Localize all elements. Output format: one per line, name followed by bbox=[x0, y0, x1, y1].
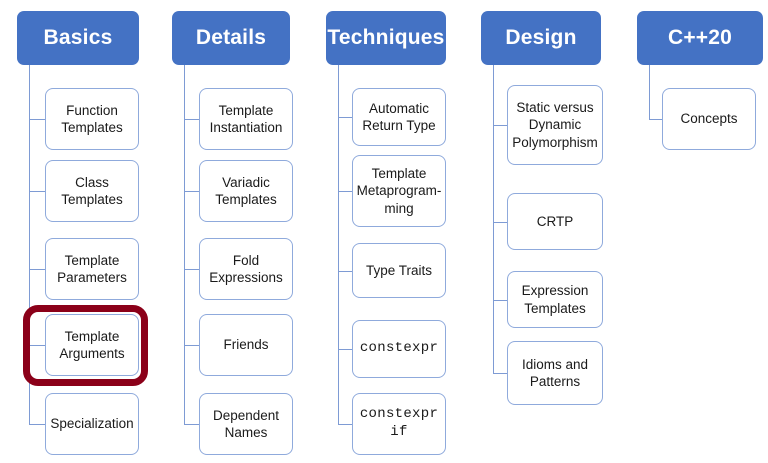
node-design-1[interactable]: CRTP bbox=[507, 193, 603, 250]
node-techniques-2[interactable]: Type Traits bbox=[352, 243, 446, 298]
connector-trunk-techniques bbox=[338, 65, 339, 424]
node-basics-2[interactable]: Template Parameters bbox=[45, 238, 139, 300]
connector-stub-techniques-0 bbox=[338, 117, 352, 118]
connector-stub-details-4 bbox=[184, 424, 199, 425]
connector-trunk-cpp20 bbox=[649, 65, 650, 119]
connector-stub-details-0 bbox=[184, 119, 199, 120]
node-cpp20-0[interactable]: Concepts bbox=[662, 88, 756, 150]
connector-stub-basics-2 bbox=[29, 269, 45, 270]
connector-stub-basics-3 bbox=[29, 345, 45, 346]
connector-stub-cpp20-0 bbox=[649, 119, 662, 120]
connector-stub-basics-4 bbox=[29, 424, 45, 425]
connector-stub-details-3 bbox=[184, 345, 199, 346]
header-basics[interactable]: Basics bbox=[17, 11, 139, 65]
connector-stub-basics-0 bbox=[29, 119, 45, 120]
connector-stub-design-0 bbox=[493, 125, 507, 126]
node-techniques-1[interactable]: Template Metaprogram- ming bbox=[352, 155, 446, 227]
header-techniques[interactable]: Techniques bbox=[326, 11, 446, 65]
node-design-0[interactable]: Static versus Dynamic Polymorphism bbox=[507, 85, 603, 165]
connector-stub-details-1 bbox=[184, 191, 199, 192]
connector-stub-details-2 bbox=[184, 269, 199, 270]
connector-stub-techniques-1 bbox=[338, 191, 352, 192]
node-basics-4[interactable]: Specialization bbox=[45, 393, 139, 455]
node-details-2[interactable]: Fold Expressions bbox=[199, 238, 293, 300]
node-details-3[interactable]: Friends bbox=[199, 314, 293, 376]
node-basics-3[interactable]: Template Arguments bbox=[45, 314, 139, 376]
header-details[interactable]: Details bbox=[172, 11, 290, 65]
node-techniques-0[interactable]: Automatic Return Type bbox=[352, 88, 446, 146]
connector-stub-design-2 bbox=[493, 300, 507, 301]
connector-stub-techniques-3 bbox=[338, 349, 352, 350]
node-techniques-4[interactable]: constexpr if bbox=[352, 393, 446, 455]
header-cpp20[interactable]: C++20 bbox=[637, 11, 763, 65]
connector-stub-design-1 bbox=[493, 222, 507, 223]
connector-stub-basics-1 bbox=[29, 191, 45, 192]
node-details-1[interactable]: Variadic Templates bbox=[199, 160, 293, 222]
mindmap-diagram: BasicsFunction TemplatesClass TemplatesT… bbox=[0, 0, 768, 463]
node-details-0[interactable]: Template Instantiation bbox=[199, 88, 293, 150]
connector-stub-techniques-4 bbox=[338, 424, 352, 425]
node-design-2[interactable]: Expression Templates bbox=[507, 271, 603, 328]
node-design-3[interactable]: Idioms and Patterns bbox=[507, 341, 603, 405]
node-details-4[interactable]: Dependent Names bbox=[199, 393, 293, 455]
connector-stub-techniques-2 bbox=[338, 271, 352, 272]
connector-trunk-design bbox=[493, 65, 494, 373]
header-design[interactable]: Design bbox=[481, 11, 601, 65]
node-techniques-3[interactable]: constexpr bbox=[352, 320, 446, 378]
connector-stub-design-3 bbox=[493, 373, 507, 374]
node-basics-0[interactable]: Function Templates bbox=[45, 88, 139, 150]
node-basics-1[interactable]: Class Templates bbox=[45, 160, 139, 222]
